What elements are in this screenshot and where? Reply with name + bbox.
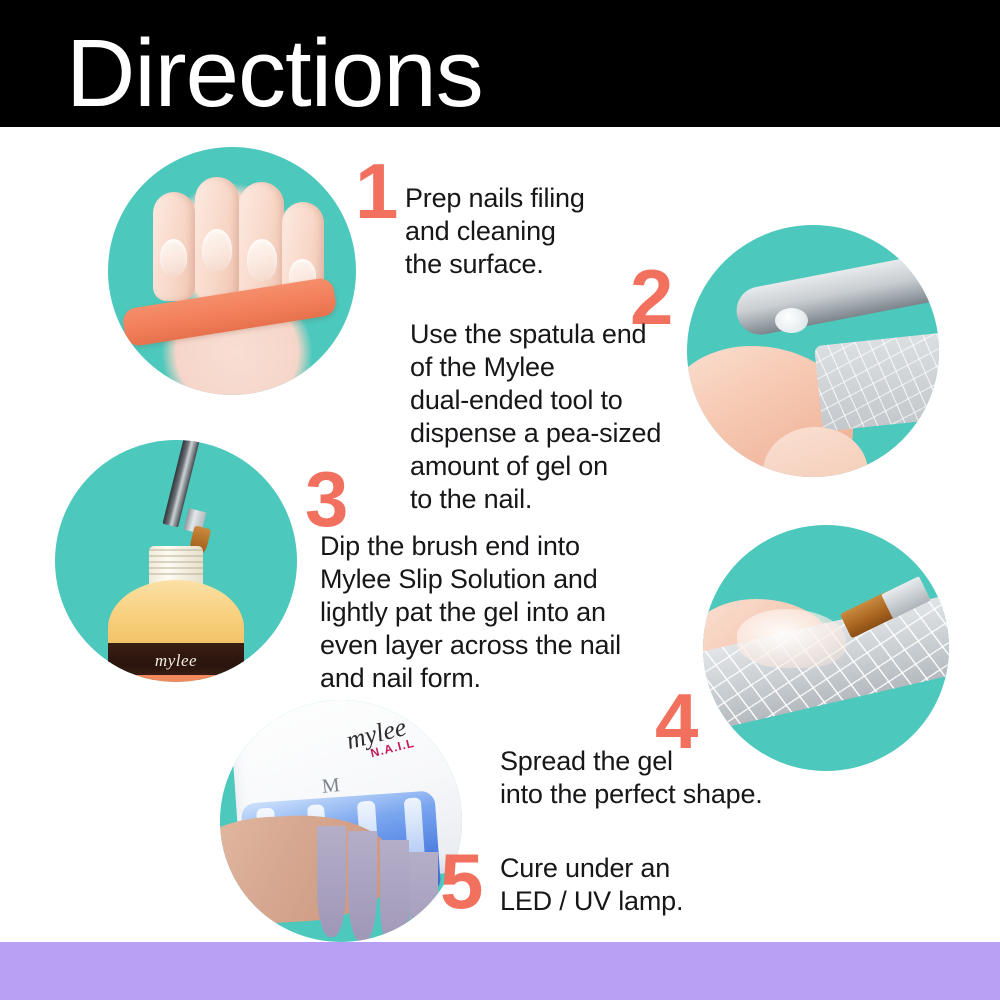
step-5-photo: mylee N.A.I.L M bbox=[220, 700, 462, 942]
nail-3 bbox=[247, 239, 277, 281]
lamp-mark: M bbox=[320, 774, 340, 799]
nail-form bbox=[814, 331, 939, 432]
step-1-photo bbox=[108, 147, 356, 395]
gel-layer bbox=[737, 609, 845, 668]
brush-spreading-gel-photo bbox=[703, 525, 949, 771]
directions-infographic: Directions 1 Prep nails filing and clean… bbox=[0, 0, 1000, 1000]
spatula-dispensing-gel-photo bbox=[687, 225, 939, 477]
gel-bead bbox=[775, 308, 808, 333]
header-band: Directions bbox=[0, 0, 1000, 127]
lamp-finger-1 bbox=[317, 826, 346, 937]
step-3-photo: mylee bbox=[55, 440, 297, 682]
lamp-finger-4 bbox=[409, 852, 438, 942]
lamp-finger-2 bbox=[348, 831, 377, 942]
lamp-finger-3 bbox=[380, 840, 409, 942]
step-5-text: Cure under an LED / UV lamp. bbox=[500, 852, 800, 918]
nail-2 bbox=[202, 229, 232, 271]
nail-file-on-hand-photo bbox=[108, 147, 356, 395]
step-1-number: 1 bbox=[355, 152, 396, 230]
nail-1 bbox=[160, 239, 187, 276]
step-2-text: Use the spatula end of the Mylee dual-en… bbox=[410, 318, 700, 516]
step-4-text: Spread the gel into the perfect shape. bbox=[500, 745, 840, 811]
footer-band bbox=[0, 942, 1000, 1000]
slip-solution-bottle-photo: mylee bbox=[55, 440, 297, 682]
step-5-number: 5 bbox=[440, 842, 481, 920]
page-title: Directions bbox=[66, 22, 483, 126]
step-3-text: Dip the brush end into Mylee Slip Soluti… bbox=[320, 530, 680, 695]
uv-lamp-curing-photo: mylee N.A.I.L M bbox=[220, 700, 462, 942]
spatula-tool bbox=[732, 250, 939, 339]
step-2-photo bbox=[687, 225, 939, 477]
step-4-photo bbox=[703, 525, 949, 771]
step-3-number: 3 bbox=[305, 460, 346, 538]
bottle-base bbox=[113, 675, 239, 682]
bottle-neck-threads bbox=[149, 549, 202, 578]
bottle-label-text: mylee bbox=[155, 651, 197, 671]
